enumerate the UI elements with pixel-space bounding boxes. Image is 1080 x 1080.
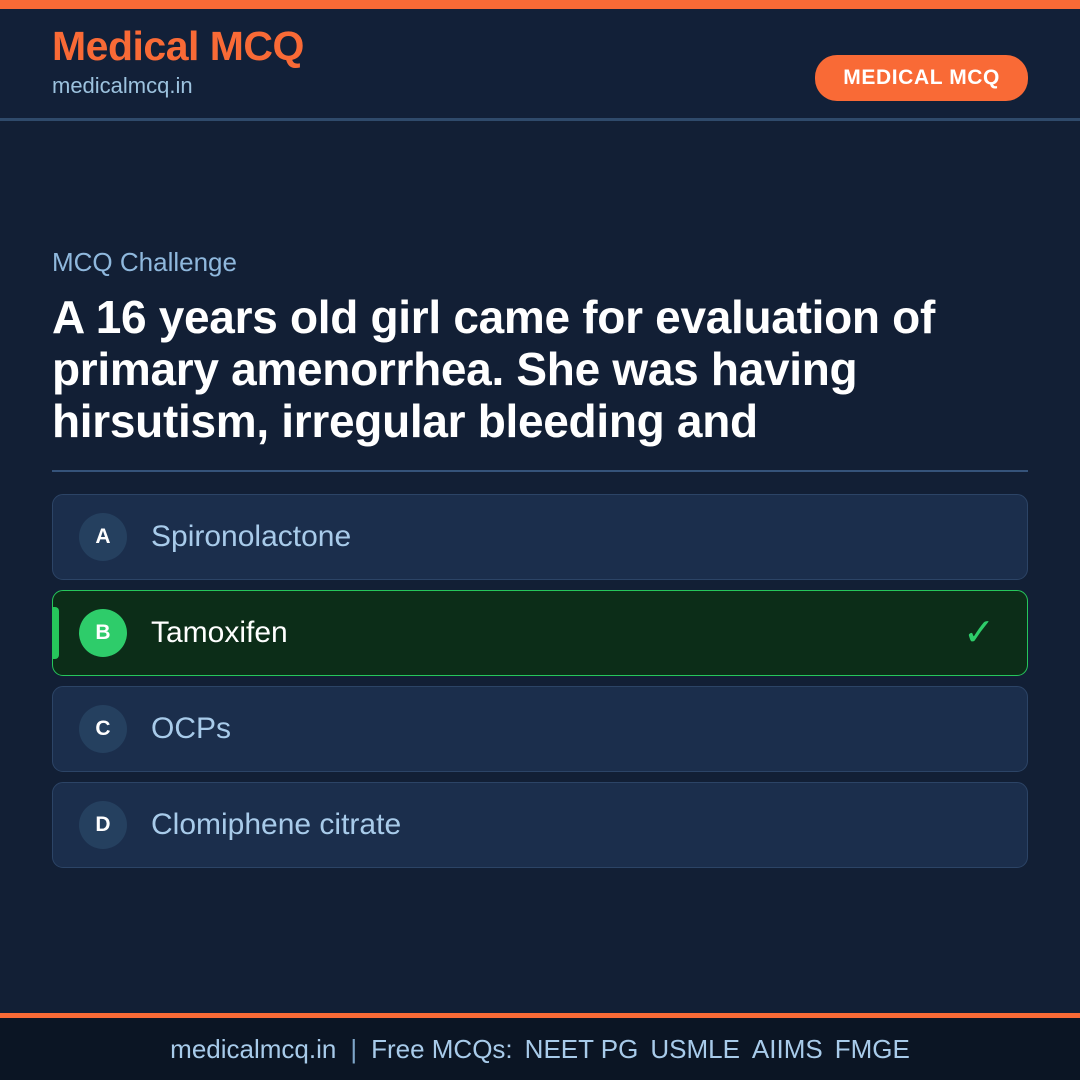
option-d-text: Clomiphene citrate (151, 807, 401, 843)
footer-label: Free MCQs: (371, 1034, 513, 1065)
question-text: A 16 years old girl came for evaluation … (52, 292, 1028, 448)
check-icon: ✓ (963, 614, 995, 652)
footer-separator: | (336, 1034, 371, 1065)
footer-tag-neetpg: NEET PG (513, 1034, 639, 1065)
option-a-text: Spironolactone (151, 519, 351, 555)
option-b-letter: B (79, 609, 127, 657)
option-a[interactable]: A Spironolactone ✓ (52, 494, 1028, 580)
option-c-letter: C (79, 705, 127, 753)
option-a-letter: A (79, 513, 127, 561)
top-accent-bar (0, 0, 1080, 9)
correct-accent-bar (53, 607, 59, 659)
option-b-text: Tamoxifen (151, 615, 288, 651)
kicker-label: MCQ Challenge (52, 247, 1028, 278)
option-d[interactable]: D Clomiphene citrate ✓ (52, 782, 1028, 868)
footer: medicalmcq.in | Free MCQs: NEET PG USMLE… (0, 1018, 1080, 1080)
footer-site: medicalmcq.in (170, 1034, 336, 1065)
option-d-letter: D (79, 801, 127, 849)
brand-subtitle: medicalmcq.in (52, 71, 304, 102)
footer-tag-fmge: FMGE (823, 1034, 910, 1065)
brand-title: Medical MCQ (52, 25, 304, 68)
header: Medical MCQ medicalmcq.in MEDICAL MCQ (0, 9, 1080, 121)
option-c[interactable]: C OCPs ✓ (52, 686, 1028, 772)
header-badge: MEDICAL MCQ (815, 55, 1028, 101)
option-c-text: OCPs (151, 711, 231, 747)
brand-block: Medical MCQ medicalmcq.in (52, 25, 304, 102)
options-list: A Spironolactone ✓ B Tamoxifen ✓ C OCPs … (52, 494, 1028, 868)
footer-tag-usmle: USMLE (638, 1034, 740, 1065)
question-divider (52, 470, 1028, 472)
content-area: MCQ Challenge A 16 years old girl came f… (0, 121, 1080, 1013)
footer-tag-aiims: AIIMS (740, 1034, 823, 1065)
mcq-card: Medical MCQ medicalmcq.in MEDICAL MCQ MC… (0, 0, 1080, 1080)
option-b[interactable]: B Tamoxifen ✓ (52, 590, 1028, 676)
